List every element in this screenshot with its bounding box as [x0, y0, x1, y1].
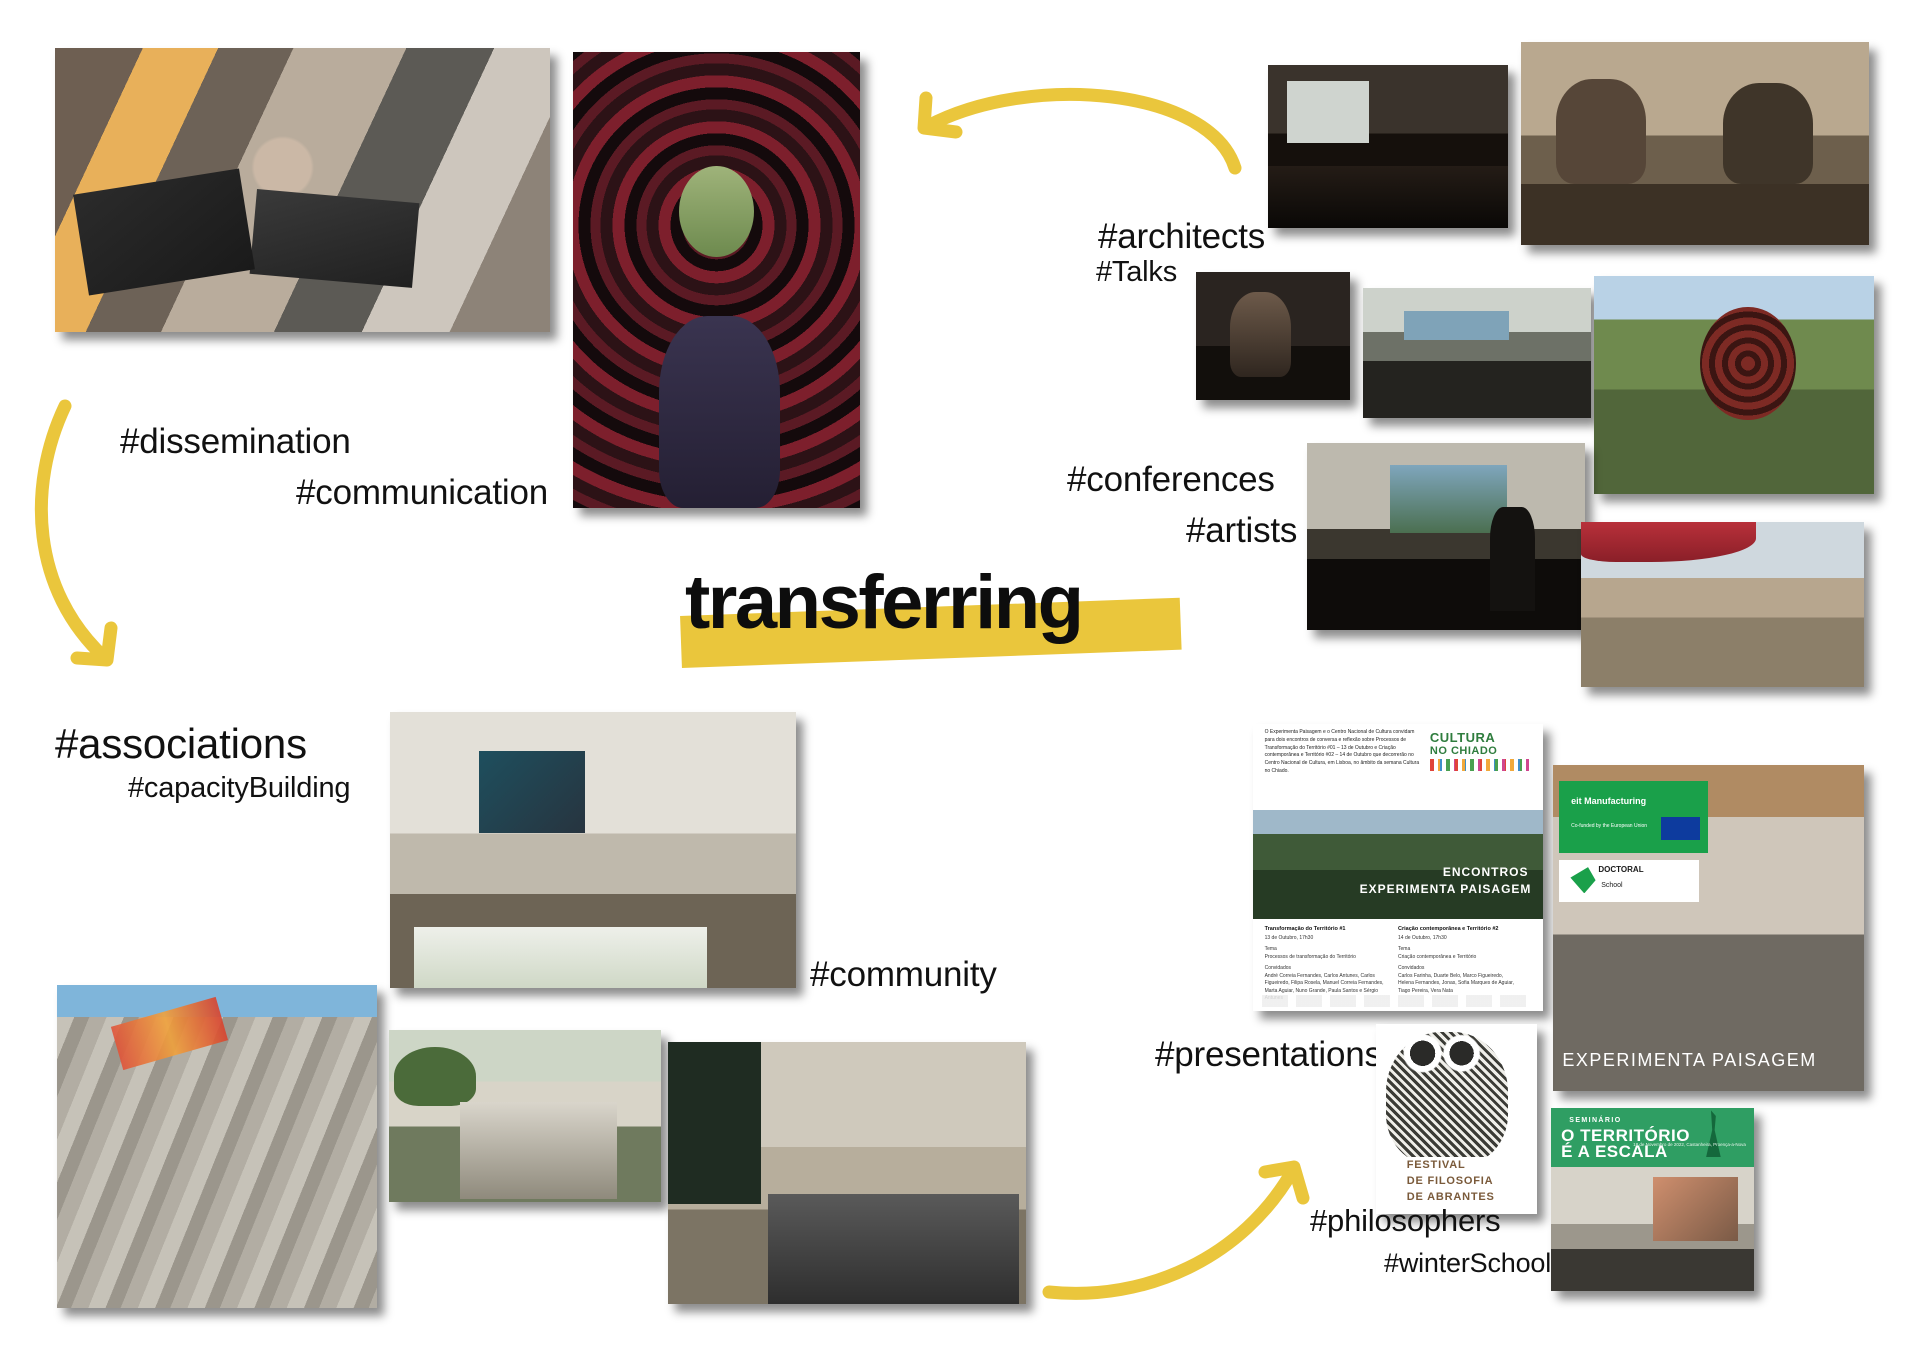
- photo-outdoor-group-conversation: [389, 1030, 661, 1202]
- poster-sessions: Transformação do Território #1 13 de Out…: [1253, 919, 1543, 1011]
- eit-manufacturing-logo: eit Manufacturing Co-funded by the Europ…: [1559, 781, 1708, 853]
- owl-icon: [1386, 1032, 1508, 1165]
- arrow-bottom-curved-up-right: [1035, 1110, 1335, 1315]
- seminario-details: 18 de Novembro de 2022, Castanheira, Pro…: [1633, 1142, 1746, 1148]
- poster-canvas: #dissemination #communication #architect…: [0, 0, 1920, 1357]
- photo-rocky-outcrop-fieldwork: [57, 985, 377, 1308]
- session1-theme: Processos de transformação do Território: [1265, 954, 1387, 962]
- photo-seminar-room-audience: [1363, 288, 1591, 418]
- session2-theme: Criação contemporânea e Território: [1398, 954, 1520, 962]
- tag-conferences: #conferences: [1067, 460, 1275, 500]
- session2-speakers: Carlos Farinha, Duarte Belo, Marco Figue…: [1398, 973, 1520, 996]
- page-title: transferring: [675, 560, 1195, 680]
- tag-dissemination: #dissemination: [120, 422, 351, 462]
- photo-speaker-with-microphone: [1196, 272, 1350, 400]
- seminario-photo: [1551, 1167, 1754, 1291]
- festival-line1: FESTIVAL: [1407, 1159, 1466, 1171]
- photo-outdoor-workshop-table: [668, 1042, 1026, 1304]
- tag-talks: #Talks: [1096, 256, 1177, 289]
- festival-title-box: FESTIVAL DE FILOSOFIA DE ABRANTES: [1402, 1157, 1528, 1206]
- photo-spiral-sculpture-child: [573, 52, 860, 508]
- festival-line2: DE FILOSOFIA: [1407, 1175, 1494, 1187]
- poster-intro-text: O Experimenta Paisagem e o Centro Nacion…: [1265, 729, 1422, 776]
- session2-theme-label: Tema: [1398, 946, 1520, 954]
- title-text: transferring: [685, 565, 1082, 641]
- card-experimenta-paisagem: eit Manufacturing Co-funded by the Europ…: [1553, 765, 1864, 1091]
- card-seminario-territorio: SEMINÁRIO O TERRITÓRIO É A ESCALA 18 de …: [1551, 1108, 1754, 1291]
- doctoral-line2: School: [1601, 882, 1622, 889]
- photo-outdoor-spiral-sculpture: [1594, 276, 1874, 494]
- session1-datetime: 13 de Outubro, 17h30: [1265, 935, 1387, 943]
- eu-flag-icon: [1661, 817, 1700, 840]
- doctoral-line1: DOCTORAL: [1598, 865, 1643, 874]
- tag-architects: #architects: [1098, 217, 1265, 257]
- doctoral-school-logo: DOCTORAL School: [1559, 860, 1699, 902]
- session-2: Criação contemporânea e Território #2 14…: [1398, 925, 1520, 996]
- tag-community: #community: [810, 955, 997, 995]
- tag-associations: #associations: [55, 720, 307, 768]
- logo-line2: NO CHIADO: [1430, 745, 1529, 757]
- tag-artists: #artists: [1186, 511, 1297, 551]
- session2-speakers-label: Convidados: [1398, 965, 1520, 973]
- poster-sponsor-logos: [1262, 995, 1535, 1007]
- photo-street-performance-women: [1581, 522, 1864, 687]
- tag-winter-school: #winterSchool: [1384, 1248, 1551, 1279]
- card-festival-filosofia: FESTIVAL DE FILOSOFIA DE ABRANTES: [1376, 1024, 1537, 1214]
- eit-subtitle: Co-funded by the European Union: [1571, 823, 1647, 830]
- seminario-kicker: SEMINÁRIO: [1569, 1117, 1621, 1124]
- photo-panel-discussion-table: [1521, 42, 1869, 245]
- session1-title: Transformação do Território #1: [1265, 925, 1387, 933]
- hero-line2: EXPERIMENTA PAISAGEM: [1360, 882, 1532, 896]
- tag-presentations: #presentations: [1155, 1035, 1382, 1075]
- session2-datetime: 14 de Outubro, 17h30: [1398, 935, 1520, 943]
- festival-line3: DE ABRANTES: [1407, 1191, 1495, 1203]
- tag-capacity-building: #capacityBuilding: [128, 772, 350, 805]
- eit-title: eit Manufacturing: [1571, 796, 1646, 806]
- poster-cultura-no-chiado: O Experimenta Paisagem e o Centro Nacion…: [1253, 724, 1543, 1011]
- arrow-top-curved-left: [880, 40, 1260, 190]
- experimenta-paisagem-caption: EXPERIMENTA PAISAGEM: [1562, 1050, 1816, 1071]
- photo-audience-reading-booklet: [55, 48, 550, 332]
- logo-pattern: [1430, 759, 1529, 771]
- cultura-no-chiado-logo: CULTURA NO CHIADO: [1430, 730, 1529, 771]
- tag-philosophers: #philosophers: [1310, 1203, 1500, 1239]
- hero-line1: ENCONTROS: [1443, 865, 1529, 879]
- session2-title: Criação contemporânea e Território #2: [1398, 925, 1520, 933]
- poster-hero-image: ENCONTROS EXPERIMENTA PAISAGEM: [1253, 810, 1543, 919]
- session1-speakers-label: Convidados: [1265, 965, 1387, 973]
- poster-header: O Experimenta Paisagem e o Centro Nacion…: [1253, 724, 1543, 810]
- session1-theme-label: Tema: [1265, 946, 1387, 954]
- logo-line1: CULTURA: [1430, 730, 1529, 745]
- doctoral-mark-icon: [1570, 867, 1595, 893]
- seminario-banner: SEMINÁRIO O TERRITÓRIO É A ESCALA 18 de …: [1551, 1108, 1754, 1167]
- tag-communication: #communication: [296, 473, 548, 513]
- photo-dark-hall-projection: [1307, 443, 1585, 630]
- session-1: Transformação do Território #1 13 de Out…: [1265, 925, 1387, 1003]
- photo-exhibition-room-visitors: [390, 712, 796, 988]
- photo-conference-room-wide: [1268, 65, 1508, 228]
- figure-silhouette-icon: [1701, 1110, 1725, 1157]
